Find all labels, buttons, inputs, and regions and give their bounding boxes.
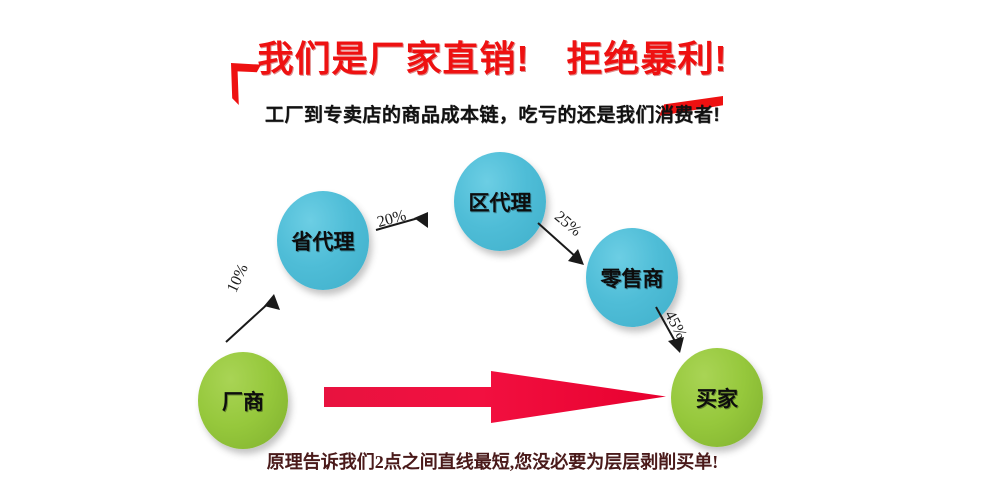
node-province-agent: 省代理 xyxy=(277,191,369,290)
node-buyer-label: 买家 xyxy=(696,383,738,413)
infographic-canvas: 我们是厂家直销! 拒绝暴利! 工厂到专卖店的商品成本链，吃亏的还是我们消费者! … xyxy=(0,0,985,487)
page-title: 我们是厂家直销! 拒绝暴利! xyxy=(0,30,985,88)
node-manufacturer: 厂商 xyxy=(198,352,288,449)
node-retailer-label: 零售商 xyxy=(601,263,664,293)
footer-note: 原理告诉我们2点之间直线最短,您没必要为层层剥削买单! xyxy=(0,448,985,474)
node-district-agent-label: 区代理 xyxy=(469,187,532,217)
title-block: 我们是厂家直销! 拒绝暴利! xyxy=(0,30,985,92)
direct-sale-red-arrow xyxy=(324,371,666,423)
node-manufacturer-label: 厂商 xyxy=(222,386,264,416)
node-district-agent: 区代理 xyxy=(454,152,546,251)
edge-arrow-manufacturer-to-province xyxy=(222,286,292,346)
node-province-agent-label: 省代理 xyxy=(292,226,355,256)
page-subtitle: 工厂到专卖店的商品成本链，吃亏的还是我们消费者! xyxy=(0,100,985,127)
